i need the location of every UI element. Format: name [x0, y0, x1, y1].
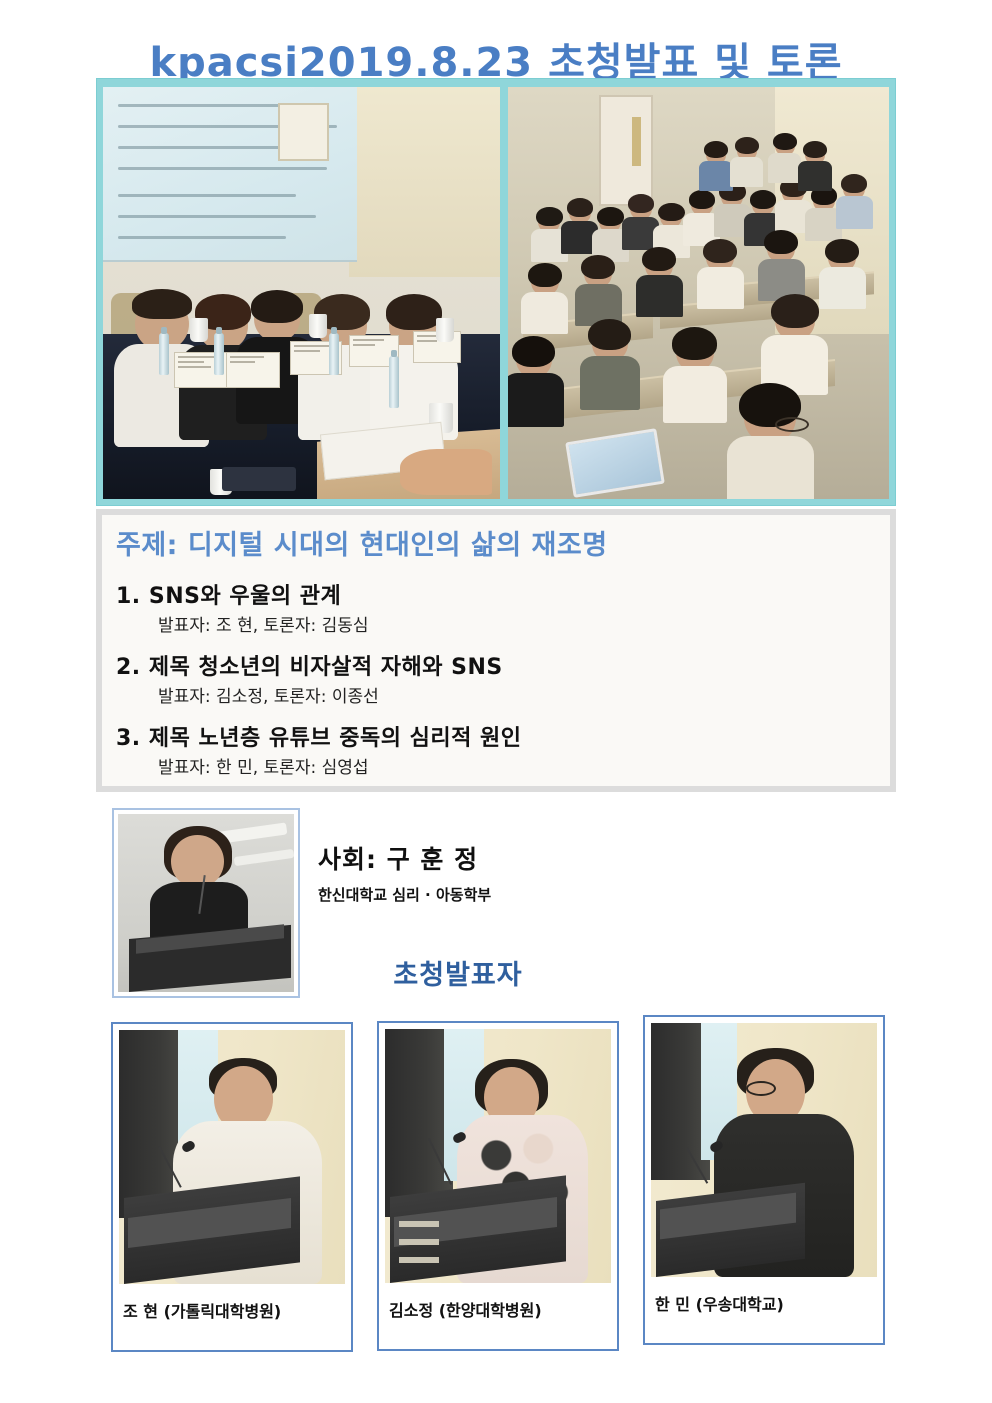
- agenda-title-1: SNS와 우울의 관계: [149, 584, 341, 609]
- agenda-item-1: 1. SNS와 우울의 관계 발표자: 조 현, 토론자: 김동심: [116, 578, 876, 636]
- agenda-title-2: 제목 청소년의 비자살적 자해와 SNS: [149, 655, 503, 680]
- speaker-card-2: 김소정 (한양대학병원): [377, 1021, 619, 1351]
- glasses-icon: [775, 417, 809, 432]
- agenda-title-3: 제목 노년층 유튜브 중독의 심리적 원인: [149, 726, 522, 751]
- panel-discussion-photo: [103, 87, 500, 499]
- top-photo-band: [96, 78, 896, 506]
- audience-photo: [508, 87, 889, 499]
- topic-heading: 주제: 디지털 시대의 현대인의 삶의 재조명: [116, 523, 876, 562]
- speakers-section-heading: 초청발표자: [0, 953, 992, 992]
- agenda-item-2: 2. 제목 청소년의 비자살적 자해와 SNS 발표자: 김소정, 토론자: 이…: [116, 649, 876, 707]
- speaker-photo-2: [385, 1029, 611, 1283]
- moderator-affiliation: 한신대학교 심리 · 아동학부: [318, 884, 491, 905]
- speaker-caption-3: 한 민 (우송대학교): [651, 1277, 877, 1315]
- speaker-photo-3: [651, 1023, 877, 1277]
- agenda-people-1: 발표자: 조 현, 토론자: 김동심: [158, 611, 876, 636]
- speaker-photo-1: [119, 1030, 345, 1284]
- moderator-name: 사회: 구 훈 정: [318, 840, 478, 876]
- program-panel: 주제: 디지털 시대의 현대인의 삶의 재조명 1. SNS와 우울의 관계 발…: [96, 509, 896, 792]
- agenda-people-2: 발표자: 김소정, 토론자: 이종선: [158, 682, 876, 707]
- speaker-caption-1: 조 현 (가톨릭대학병원): [119, 1284, 345, 1322]
- agenda-people-3: 발표자: 한 민, 토론자: 심영섭: [158, 753, 876, 778]
- agenda-number-2: 2.: [116, 655, 141, 680]
- speaker-caption-2: 김소정 (한양대학병원): [385, 1283, 611, 1321]
- agenda-number-3: 3.: [116, 726, 141, 751]
- agenda-number-1: 1.: [116, 584, 141, 609]
- agenda-item-3: 3. 제목 노년층 유튜브 중독의 심리적 원인 발표자: 한 민, 토론자: …: [116, 720, 876, 778]
- speaker-card-3: 한 민 (우송대학교): [643, 1015, 885, 1345]
- speaker-card-1: 조 현 (가톨릭대학병원): [111, 1022, 353, 1352]
